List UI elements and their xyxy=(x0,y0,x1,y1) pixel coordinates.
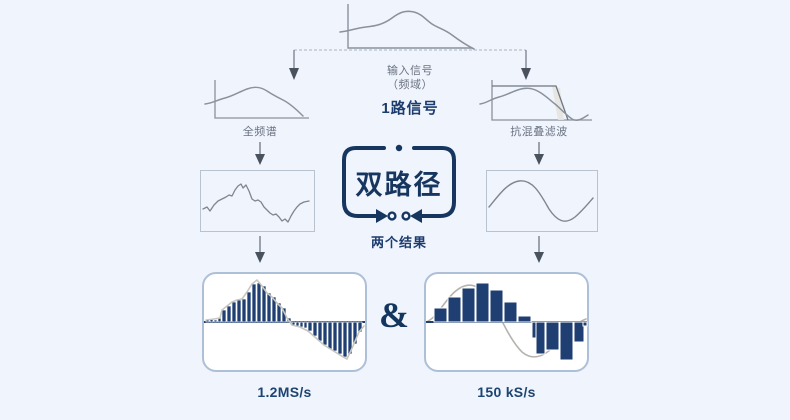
left-arrow-2 xyxy=(252,236,268,264)
result-low-rate-chart xyxy=(426,274,587,370)
bar-group xyxy=(434,283,587,360)
right-arrow-1 xyxy=(531,142,547,166)
rate-label-low: 150 kS/s xyxy=(424,384,589,400)
result-panel-low-rate xyxy=(424,272,589,372)
right-arrow-2 xyxy=(531,236,547,264)
filtered-sine-trace xyxy=(489,181,593,221)
result-high-rate-chart xyxy=(204,274,365,370)
anti-alias-filter-label: 抗混叠滤波 xyxy=(480,126,598,139)
result-panel-high-rate xyxy=(202,272,367,372)
full-spectrum-curve xyxy=(205,87,303,116)
dual-path-label: 双路径 xyxy=(338,163,460,202)
broadband-waveform-trace xyxy=(203,184,309,222)
rate-label-high: 1.2MS/s xyxy=(202,384,367,400)
bar-group xyxy=(206,283,362,357)
full-spectrum-chart xyxy=(205,78,315,124)
full-spectrum-label: 全频谱 xyxy=(205,126,315,139)
broadband-waveform-box xyxy=(200,170,315,232)
ampersand-symbol: & xyxy=(379,294,409,336)
left-arrow-1 xyxy=(252,142,268,166)
dot-left xyxy=(389,213,396,220)
filtered-sine-box xyxy=(486,170,598,232)
two-results-label: 两个结果 xyxy=(338,232,460,251)
input-spectrum-overlay xyxy=(480,88,588,120)
dot-right xyxy=(403,213,410,220)
diagram-canvas: 输入信号 （频域） 1路信号 全频谱 xyxy=(0,0,790,420)
axis-lines xyxy=(215,80,309,118)
anti-alias-filter-chart xyxy=(480,78,598,126)
inward-arrow-right xyxy=(410,209,422,223)
one-channel-emphasis: 1路信号 xyxy=(355,97,465,118)
dot-top xyxy=(396,145,402,151)
inward-arrow-left xyxy=(376,209,388,223)
